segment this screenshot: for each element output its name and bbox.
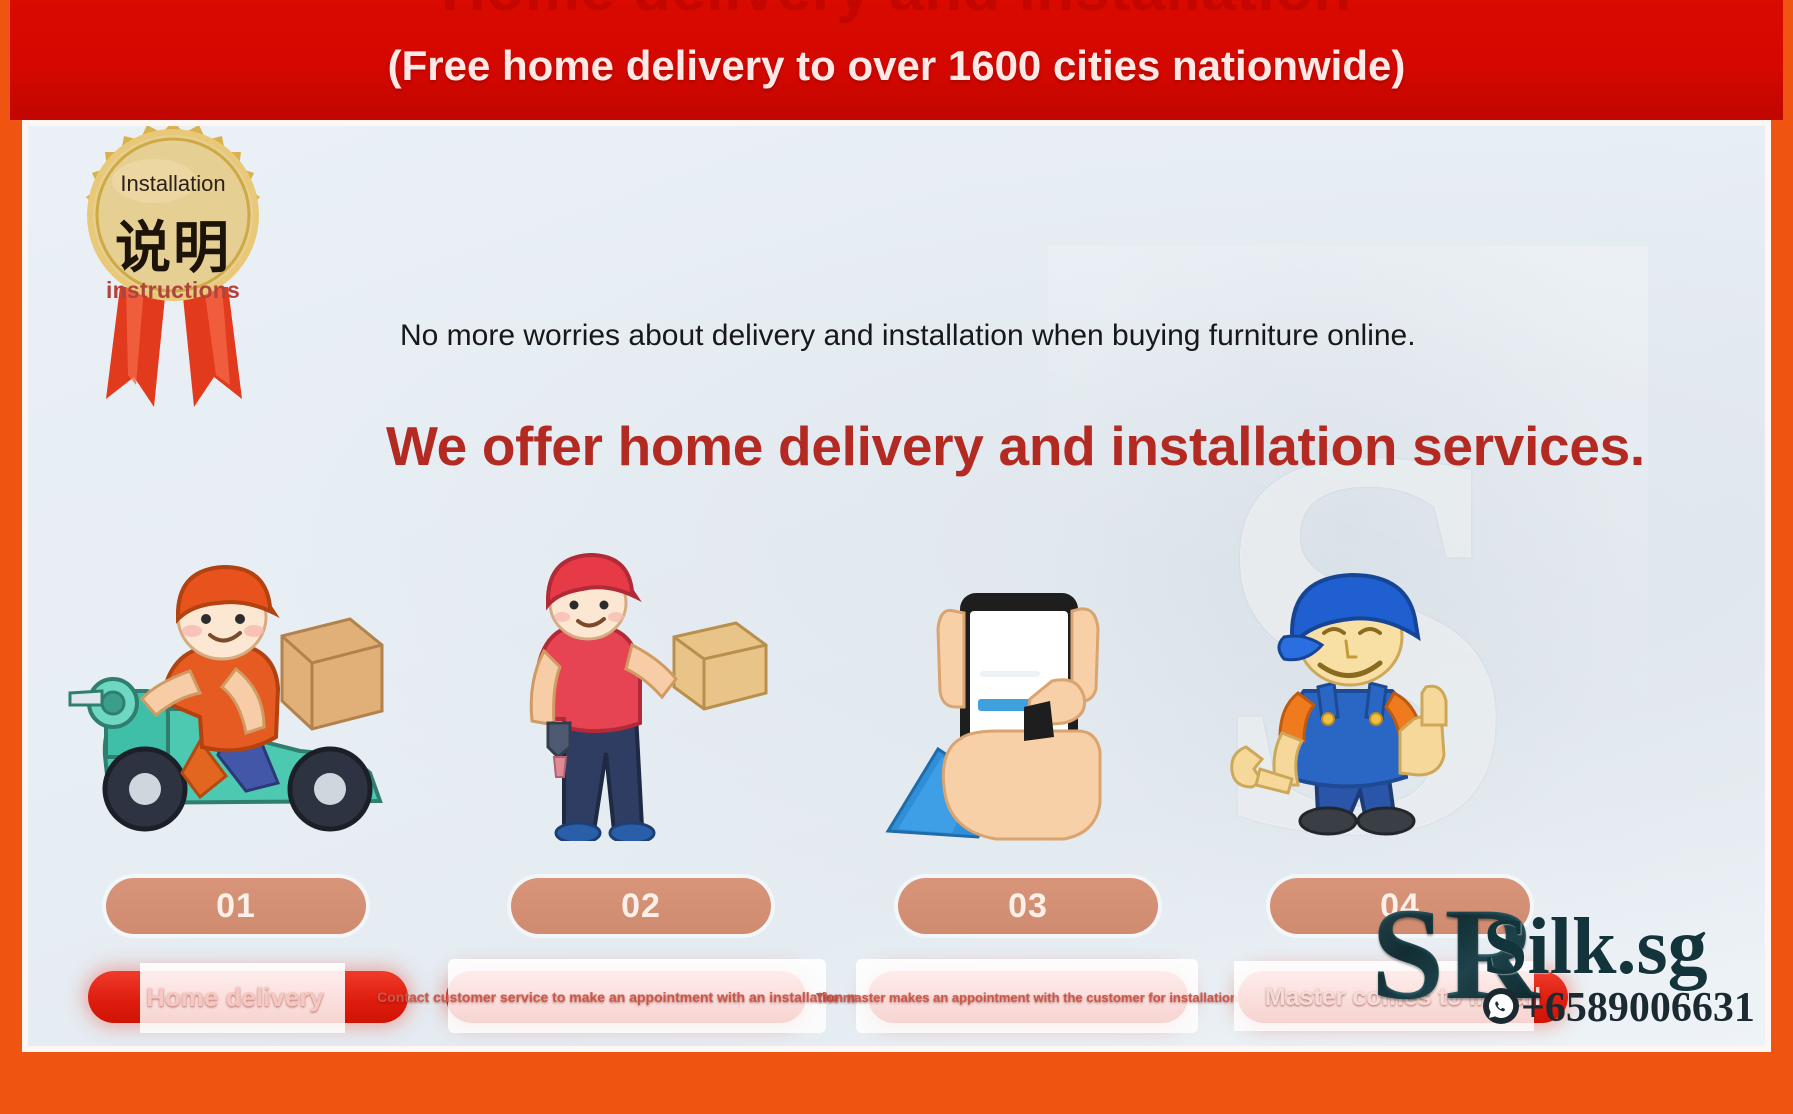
step-label: The master makes an appointment with the…	[848, 971, 1206, 1023]
content-card: S Installation 说明 instructions	[28, 126, 1765, 1046]
repairman-thumbs-up-icon	[1188, 541, 1608, 841]
step-label: Contact customer service to make an appo…	[446, 971, 824, 1023]
step-number-badge: 04	[1270, 878, 1530, 934]
intro-lede: No more worries about delivery and insta…	[400, 319, 1416, 353]
card-rim: S Installation 说明 instructions	[22, 120, 1771, 1052]
steps-row: 01 Home delivery	[28, 541, 1765, 1046]
hand-holding-phone-icon	[828, 541, 1248, 841]
step-1: 01 Home delivery	[50, 541, 470, 1046]
banner-subtitle: (Free home delivery to over 1600 cities …	[10, 42, 1783, 90]
step-number-badge: 01	[106, 878, 366, 934]
step-number-badge: 03	[898, 878, 1158, 934]
step-3: 03 The master makes an appointment with …	[828, 541, 1248, 1046]
promo-poster: Home delivery and installation (Free hom…	[0, 0, 1793, 1114]
installation-seal: Installation 说明 instructions	[58, 126, 288, 419]
award-seal-icon	[68, 126, 278, 329]
worker-with-box-icon	[436, 541, 856, 841]
page-headline: We offer home delivery and installation …	[386, 414, 1645, 478]
step-label: Home delivery	[60, 971, 410, 1023]
scooter-delivery-icon	[50, 541, 470, 841]
step-number-badge: 02	[511, 878, 771, 934]
banner-title: Home delivery and installation	[10, 0, 1783, 25]
step-4: 04 Master comes to install	[1188, 541, 1608, 1046]
step-label: Master comes to install	[1238, 971, 1568, 1023]
step-2: 02 Contact customer service to make an a…	[436, 541, 856, 1046]
header-banner: Home delivery and installation (Free hom…	[10, 0, 1783, 120]
